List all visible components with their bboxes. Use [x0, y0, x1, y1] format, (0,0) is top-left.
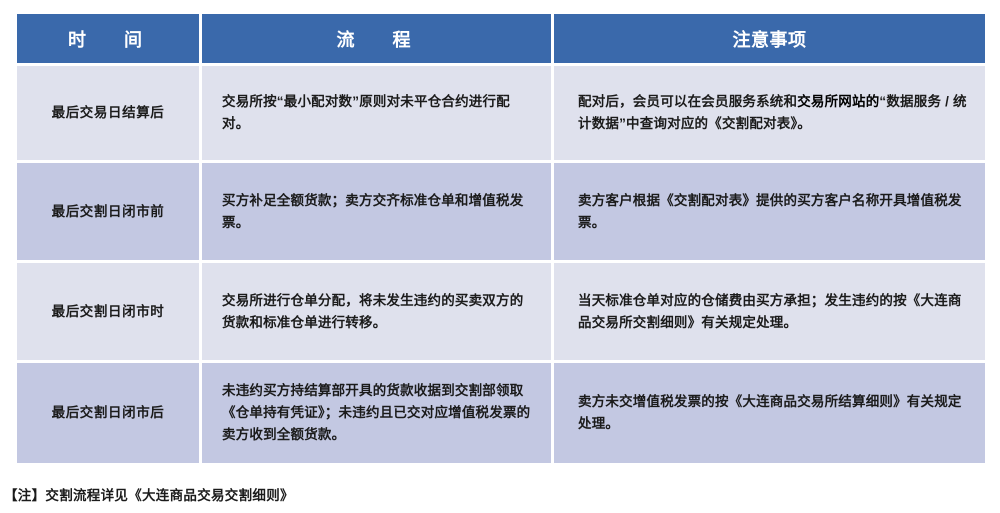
cell-time: 最后交割日闭市后	[17, 360, 202, 463]
table-row: 最后交割日闭市时 交易所进行仓单分配，将未发生违约的买卖双方的货款和标准仓单进行…	[17, 260, 985, 360]
delivery-flow-table-wrapper: 时 间 流 程 注意事项 最后交易日结算后 交易所按“最小配对数”原则对未平仓合…	[17, 14, 985, 463]
table-header-row: 时 间 流 程 注意事项	[17, 14, 985, 63]
table-row: 最后交易日结算后 交易所按“最小配对数”原则对未平仓合约进行配对。 配对后，会员…	[17, 63, 985, 160]
cell-process: 交易所进行仓单分配，将未发生违约的买卖双方的货款和标准仓单进行转移。	[202, 260, 554, 360]
delivery-flow-document: 时 间 流 程 注意事项 最后交易日结算后 交易所按“最小配对数”原则对未平仓合…	[0, 0, 1000, 513]
cell-process: 交易所按“最小配对数”原则对未平仓合约进行配对。	[202, 63, 554, 160]
cell-time: 最后交割日闭市时	[17, 260, 202, 360]
table-header: 时 间 流 程 注意事项	[17, 14, 985, 63]
notes-text-lead: 配对后，会员可以在会员服务系统和	[578, 94, 797, 109]
cell-time: 最后交易日结算后	[17, 63, 202, 160]
table-row: 最后交割日闭市前 买方补足全额货款；卖方交齐标准仓单和增值税发票。 卖方客户根据…	[17, 160, 985, 260]
cell-notes: 当天标准仓单对应的仓储费由买方承担；发生违约的按《大连商品交易所交割细则》有关规…	[554, 260, 985, 360]
delivery-flow-table: 时 间 流 程 注意事项 最后交易日结算后 交易所按“最小配对数”原则对未平仓合…	[17, 14, 985, 463]
table-body: 最后交易日结算后 交易所按“最小配对数”原则对未平仓合约进行配对。 配对后，会员…	[17, 63, 985, 463]
column-header-notes: 注意事项	[554, 14, 985, 63]
footnote: 【注】交割流程详见《大连商品交易交割细则》	[4, 484, 294, 504]
cell-process: 未违约买方持结算部开具的货款收据到交割部领取《仓单持有凭证》；未违约且已交对应增…	[202, 360, 554, 463]
cell-notes: 卖方未交增值税发票的按《大连商品交易所结算细则》有关规定处理。	[554, 360, 985, 463]
column-header-process: 流 程	[202, 14, 554, 63]
column-header-time: 时 间	[17, 14, 202, 63]
cell-notes: 卖方客户根据《交割配对表》提供的买方客户名称开具增值税发票。	[554, 160, 985, 260]
cell-process: 买方补足全额货款；卖方交齐标准仓单和增值税发票。	[202, 160, 554, 260]
cell-time: 最后交割日闭市前	[17, 160, 202, 260]
notes-text-emphasis: 交易所网站的	[797, 94, 879, 109]
cell-notes: 配对后，会员可以在会员服务系统和交易所网站的“数据服务 / 统计数据”中查询对应…	[554, 63, 985, 160]
table-row: 最后交割日闭市后 未违约买方持结算部开具的货款收据到交割部领取《仓单持有凭证》；…	[17, 360, 985, 463]
